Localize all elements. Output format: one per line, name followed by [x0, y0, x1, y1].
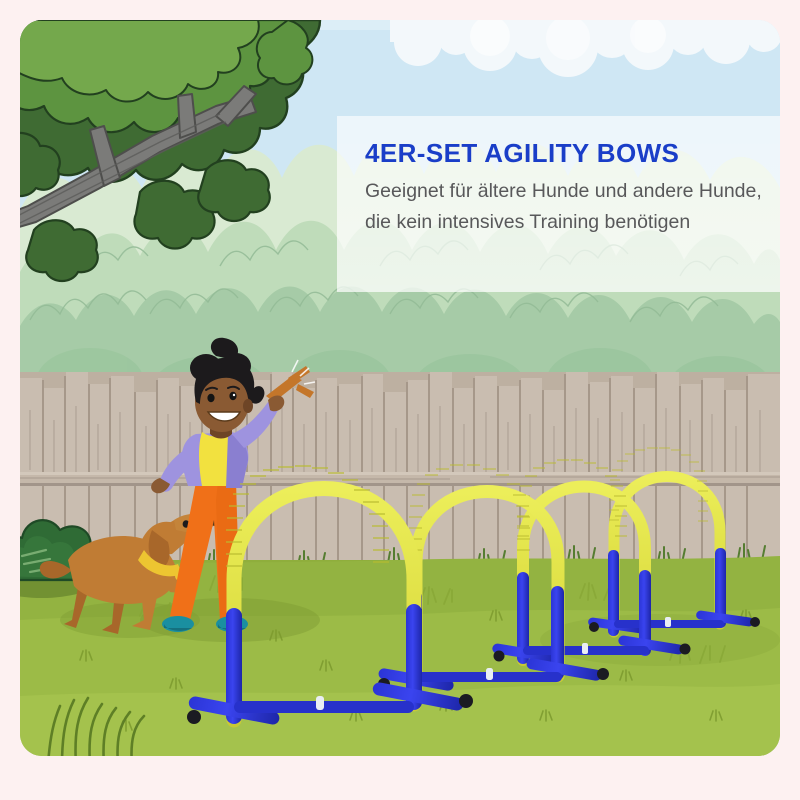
- agility-hoop-1: [187, 466, 473, 726]
- text-overlay-panel: 4ER-SET AGILITY BOWS Geeignet für ältere…: [337, 116, 780, 292]
- page-title: 4ER-SET AGILITY BOWS: [365, 138, 679, 169]
- page-subtitle: Geeignet für ältere Hunde und andere Hun…: [365, 176, 765, 238]
- illustration-scene: 4ER-SET AGILITY BOWS Geeignet für ältere…: [20, 20, 780, 756]
- product-image-canvas: 4ER-SET AGILITY BOWS Geeignet für ältere…: [0, 0, 800, 800]
